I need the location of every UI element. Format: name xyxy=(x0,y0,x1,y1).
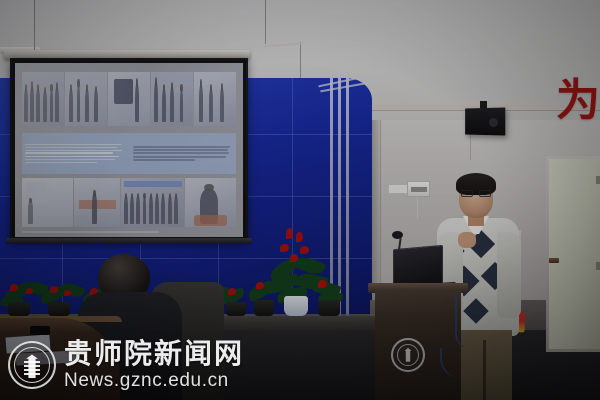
door-hinge xyxy=(596,176,600,184)
watermark-url: News.gznc.edu.cn xyxy=(64,371,244,390)
panel-seam xyxy=(0,258,372,259)
ceiling-wire xyxy=(34,0,35,50)
watermark-chinese: 贵师院新闻网 xyxy=(64,340,244,368)
gznc-news-seal-logo xyxy=(8,341,56,389)
drop-wire xyxy=(300,42,301,80)
pull-down-projection-screen xyxy=(10,58,248,242)
watermark-text: 贵师院新闻网 News.gznc.edu.cn xyxy=(64,340,244,390)
switch-panel[interactable] xyxy=(407,181,430,197)
speaker-cone-icon xyxy=(489,118,498,127)
podium-emblem xyxy=(391,338,425,372)
wall-speaker xyxy=(465,108,505,136)
screen-glare xyxy=(15,63,243,237)
power-cable xyxy=(455,292,469,348)
door-hinge xyxy=(596,262,600,270)
presenter-gesturing-hand xyxy=(458,232,476,248)
exit-door[interactable] xyxy=(549,159,600,349)
pillar-strip xyxy=(346,78,349,323)
screen-weight-bar xyxy=(6,238,252,244)
glasses-icon xyxy=(461,190,491,197)
mobile-phone xyxy=(30,326,50,335)
watermark: 贵师院新闻网 News.gznc.edu.cn xyxy=(8,340,244,390)
switch-pole xyxy=(417,197,418,219)
wall-character: 为 xyxy=(556,78,596,126)
ceiling-wire xyxy=(265,0,266,44)
podium xyxy=(375,290,461,400)
photograph-scene: 为 贵师院新闻网 Ne xyxy=(0,0,600,400)
presenter-right-arm xyxy=(497,232,521,318)
screen-surface xyxy=(15,63,243,237)
door-handle[interactable] xyxy=(549,258,559,263)
presenter-leg-split xyxy=(483,340,486,400)
